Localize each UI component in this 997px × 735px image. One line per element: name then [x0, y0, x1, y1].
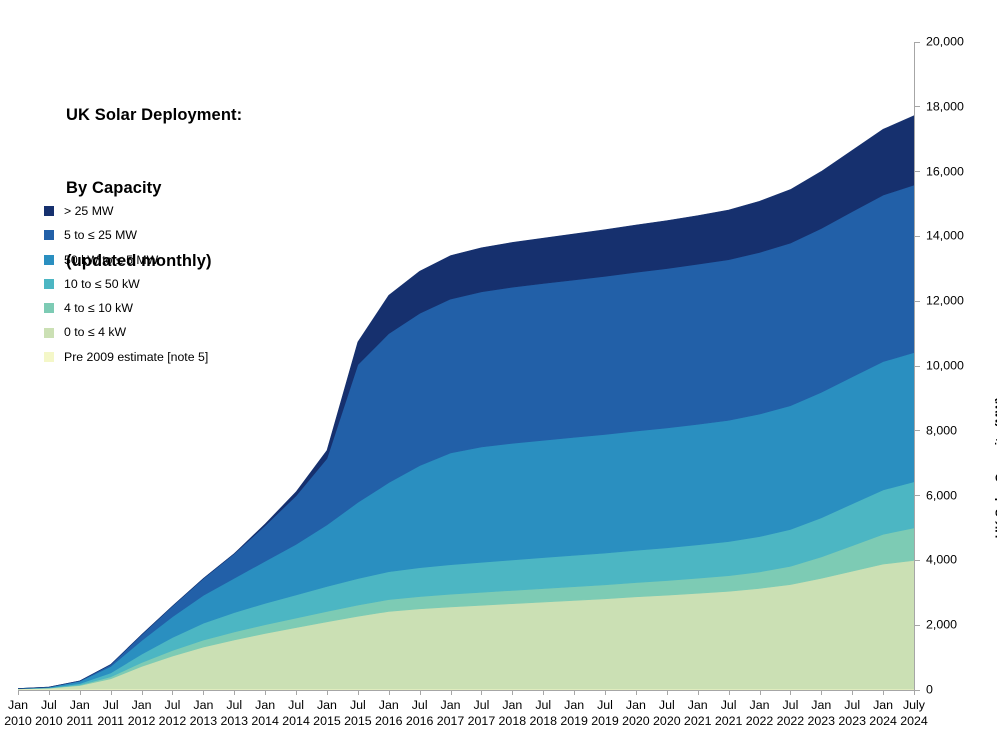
x-tick-mark	[636, 691, 637, 695]
x-tick-mark	[142, 691, 143, 695]
chart-root: UK Solar Deployment: By Capacity (update…	[0, 0, 997, 735]
y-tick-mark	[914, 495, 920, 496]
y-tick-label: 8,000	[926, 423, 957, 437]
y-tick-mark	[914, 560, 920, 561]
y-axis: 02,0004,0006,0008,00010,00012,00014,0001…	[914, 42, 974, 690]
y-tick-label: 12,000	[926, 294, 964, 308]
x-tick-mark	[512, 691, 513, 695]
y-tick-mark	[914, 625, 920, 626]
x-tick-mark	[605, 691, 606, 695]
x-tick-mark	[111, 691, 112, 695]
y-tick-mark	[914, 301, 920, 302]
y-tick-mark	[914, 171, 920, 172]
x-axis: Jan2010Jul2010Jan2011Jul2011Jan2012Jul20…	[0, 691, 997, 735]
x-tick-mark	[389, 691, 390, 695]
y-tick-label: 4,000	[926, 553, 957, 567]
stacked-area-svg	[18, 42, 914, 690]
y-axis-title: UK Solar Capacity (MW)	[993, 397, 997, 538]
x-tick-mark	[790, 691, 791, 695]
x-tick-mark	[698, 691, 699, 695]
x-tick-mark	[667, 691, 668, 695]
x-tick-mark	[821, 691, 822, 695]
x-tick-mark	[883, 691, 884, 695]
x-tick-mark	[203, 691, 204, 695]
y-tick-mark	[914, 106, 920, 107]
x-tick-mark	[729, 691, 730, 695]
x-tick-mark	[451, 691, 452, 695]
x-tick-mark	[172, 691, 173, 695]
y-tick-mark	[914, 42, 920, 43]
y-tick-label: 20,000	[926, 35, 964, 49]
x-tick-mark	[760, 691, 761, 695]
x-tick-mark	[49, 691, 50, 695]
x-tick-mark	[358, 691, 359, 695]
x-tick-mark	[914, 691, 915, 695]
x-tick-mark	[481, 691, 482, 695]
y-tick-label: 2,000	[926, 618, 957, 632]
x-tick-mark	[852, 691, 853, 695]
y-tick-mark	[914, 236, 920, 237]
x-tick-mark	[327, 691, 328, 695]
y-tick-mark	[914, 366, 920, 367]
x-tick-year: 2024	[892, 714, 936, 730]
y-tick-label: 10,000	[926, 359, 964, 373]
y-tick-label: 18,000	[926, 99, 964, 113]
x-tick-mark	[574, 691, 575, 695]
x-tick-mark	[18, 691, 19, 695]
y-tick-mark	[914, 430, 920, 431]
x-tick-mark	[234, 691, 235, 695]
x-tick-mark	[296, 691, 297, 695]
x-tick-month: July	[892, 698, 936, 714]
y-tick-label: 16,000	[926, 164, 964, 178]
x-axis-tick-label: July2024	[892, 698, 936, 729]
x-tick-mark	[80, 691, 81, 695]
x-tick-mark	[420, 691, 421, 695]
x-tick-mark	[543, 691, 544, 695]
x-tick-mark	[265, 691, 266, 695]
y-tick-label: 14,000	[926, 229, 964, 243]
y-tick-label: 6,000	[926, 488, 957, 502]
plot-area	[18, 42, 914, 690]
